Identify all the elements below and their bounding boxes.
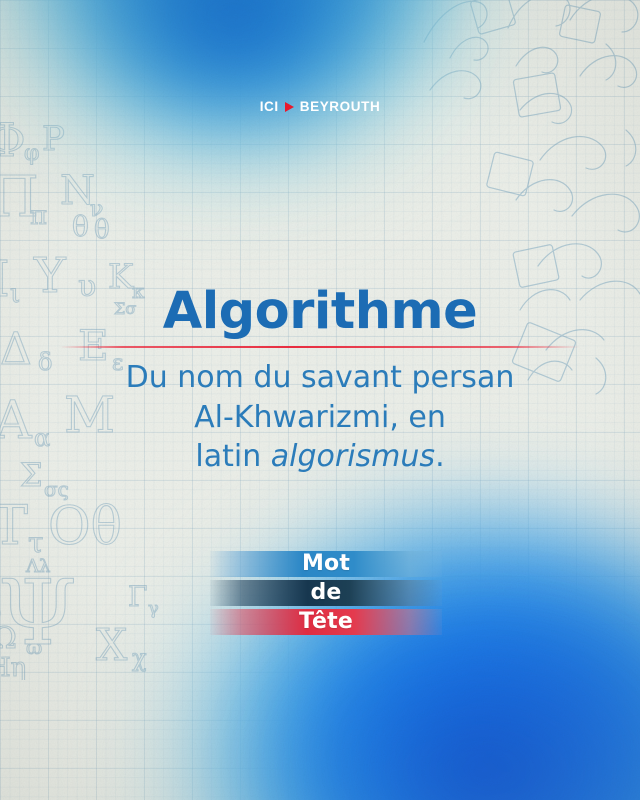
poster-canvas: Φ φ Ρ Π π Ν ν θ θ Ι ι Υ υ Κ κ Σσ Δ δ Ε ε…: [0, 0, 640, 800]
title-divider: [60, 346, 580, 348]
definition-line-2: Al-Khwarizmi, en: [60, 398, 580, 438]
page-title: Algorithme: [0, 286, 640, 337]
definition-line-3-suffix: .: [435, 439, 445, 474]
series-badge: Mot de Tête: [210, 551, 442, 638]
badge-label-mot: Mot: [302, 553, 350, 575]
definition-line-3-prefix: latin: [195, 439, 270, 474]
brand-name-beyrouth: BEYROUTH: [300, 100, 381, 114]
definition-latin-term: algorismus: [271, 439, 435, 474]
play-triangle-icon: [285, 102, 294, 112]
badge-label-de: de: [310, 582, 341, 604]
badge-bar-tete: Tête: [210, 609, 442, 635]
definition-line-1: Du nom du savant persan: [60, 358, 580, 398]
badge-label-tete: Tête: [299, 611, 353, 633]
badge-bar-de: de: [210, 580, 442, 606]
brand-name-ici: ICI: [260, 100, 279, 114]
headline-block: Algorithme: [0, 286, 640, 337]
definition-text: Du nom du savant persan Al-Khwarizmi, en…: [60, 358, 580, 477]
badge-bar-mot: Mot: [210, 551, 442, 577]
brand-logo[interactable]: ICI BEYROUTH: [0, 100, 640, 114]
definition-line-3: latin algorismus.: [60, 437, 580, 477]
